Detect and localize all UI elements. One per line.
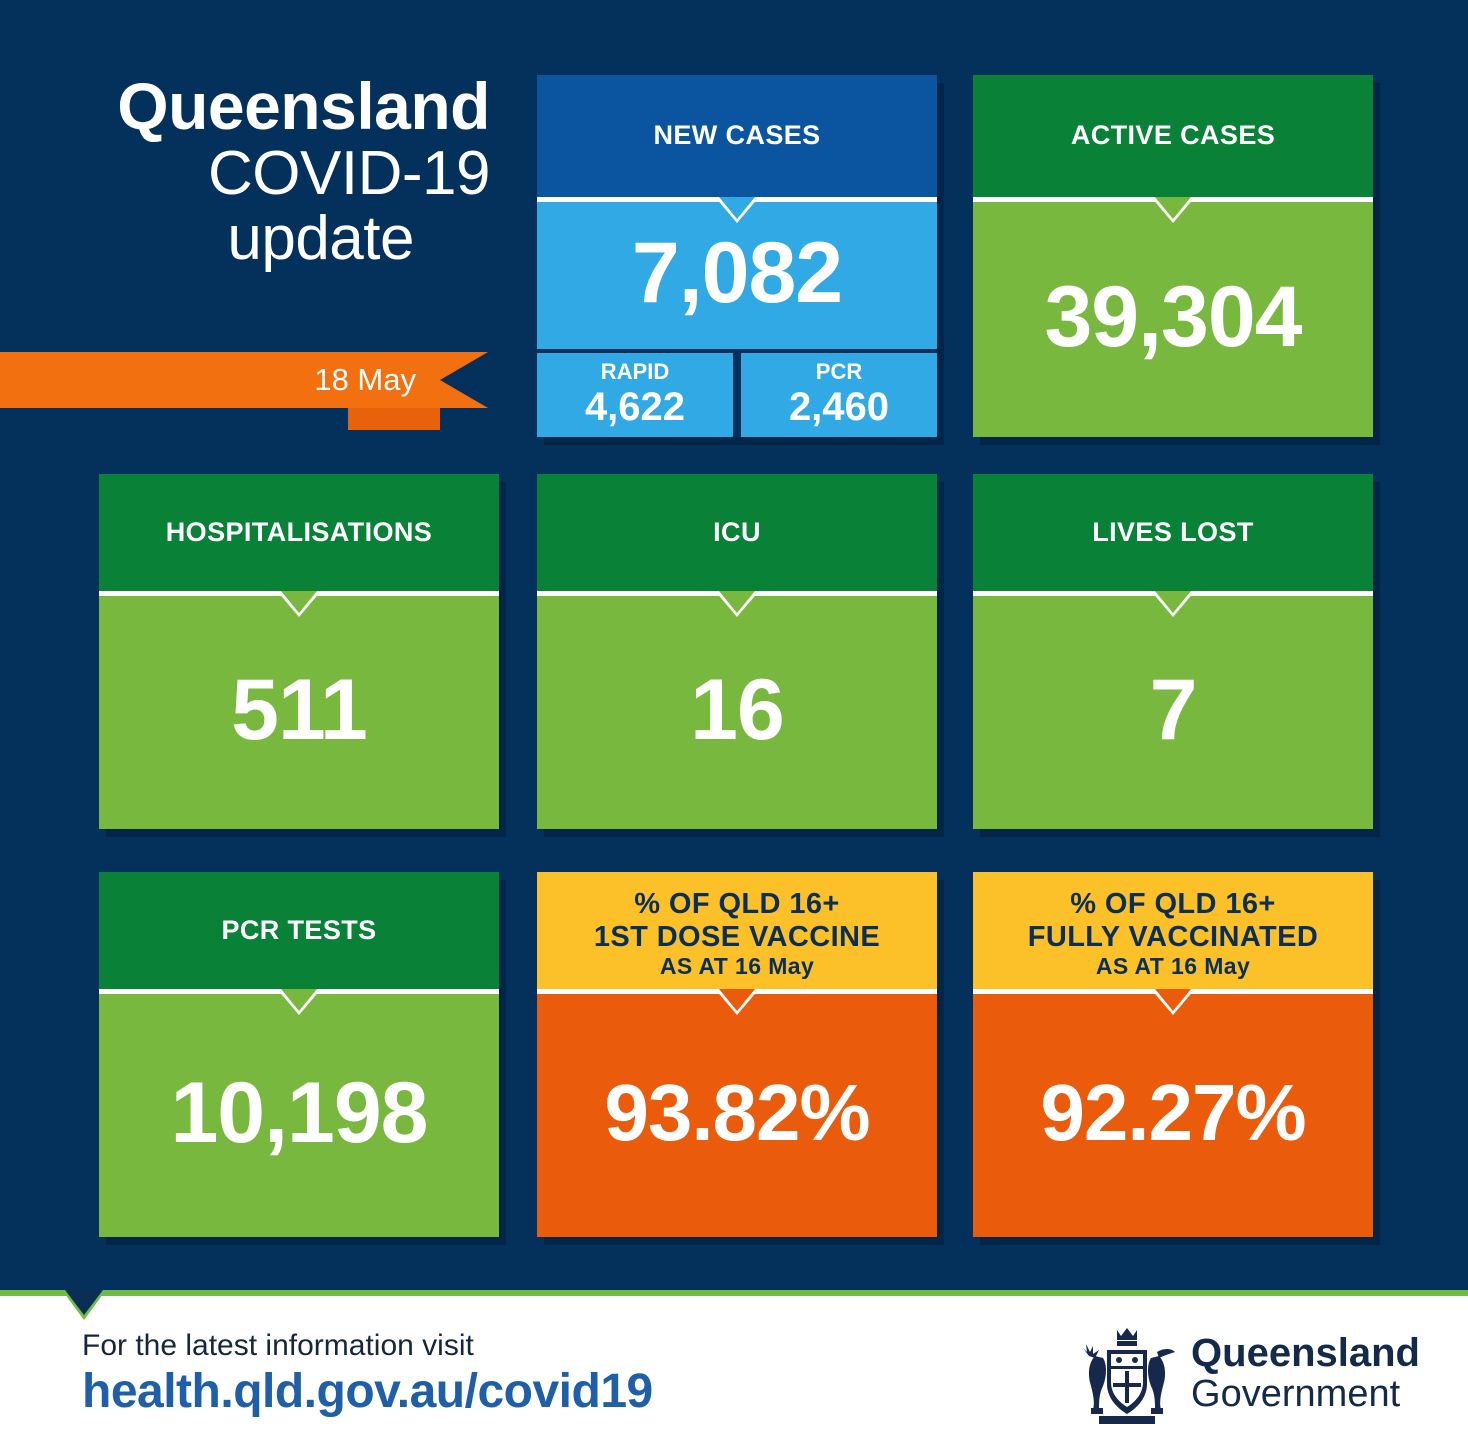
card-fully-vaccinated-label-line2: FULLY VACCINATED (1028, 921, 1319, 953)
card-pcr-tests: PCR TESTS 10,198 (99, 872, 499, 1237)
card-first-dose-header: % OF QLD 16+ 1ST DOSE VACCINE AS AT 16 M… (537, 872, 937, 989)
card-active-cases-body: 39,304 (973, 197, 1373, 437)
card-first-dose-vaccine: % OF QLD 16+ 1ST DOSE VACCINE AS AT 16 M… (537, 872, 937, 1237)
card-fully-vaccinated-label-line1: % OF QLD 16+ (1070, 888, 1275, 920)
card-first-dose-body: 93.82% (537, 989, 937, 1237)
card-new-cases-value: 7,082 (632, 230, 842, 316)
chevron-down-fill-icon (719, 591, 755, 613)
subtile-rapid-value: 4,622 (537, 385, 733, 431)
card-icu-label: ICU (713, 517, 761, 548)
page-title: Queensland COVID-19 update (0, 72, 500, 272)
ribbon-date-label: 18 May (0, 352, 416, 408)
chevron-down-fill-icon (719, 197, 755, 219)
card-lives-lost-body: 7 (973, 591, 1373, 829)
card-pcr-tests-header: PCR TESTS (99, 872, 499, 989)
card-active-cases: ACTIVE CASES 39,304 (973, 75, 1373, 437)
card-icu-header: ICU (537, 474, 937, 591)
card-active-cases-header: ACTIVE CASES (973, 75, 1373, 197)
queensland-government-logo: Queensland Government (1077, 1322, 1420, 1426)
chevron-down-fill-icon (719, 989, 755, 1011)
card-lives-lost: LIVES LOST 7 (973, 474, 1373, 829)
subtile-pcr-value: 2,460 (741, 385, 937, 431)
subtile-pcr: PCR 2,460 (741, 353, 937, 437)
card-fully-vaccinated-value: 92.27% (1040, 1073, 1305, 1153)
chevron-down-fill-icon (1155, 989, 1191, 1011)
subtile-pcr-label: PCR (741, 359, 937, 385)
card-fully-vaccinated-header: % OF QLD 16+ FULLY VACCINATED AS AT 16 M… (973, 872, 1373, 989)
card-fully-vaccinated: % OF QLD 16+ FULLY VACCINATED AS AT 16 M… (973, 872, 1373, 1237)
footer-info-text: For the latest information visit (82, 1328, 653, 1364)
card-active-cases-value: 39,304 (1044, 274, 1301, 360)
card-icu: ICU 16 (537, 474, 937, 829)
card-icu-value: 16 (690, 667, 784, 753)
coat-of-arms-icon (1077, 1322, 1177, 1426)
chevron-down-fill-icon (1155, 591, 1191, 613)
card-first-dose-value: 93.82% (604, 1073, 869, 1153)
card-hospitalisations-body: 511 (99, 591, 499, 829)
card-hospitalisations-label: HOSPITALISATIONS (166, 517, 432, 548)
footer-divider (0, 1290, 1468, 1296)
brand-line-queensland: Queensland (1191, 1333, 1420, 1375)
date-ribbon: 18 May (0, 352, 500, 428)
footer-url[interactable]: health.qld.gov.au/covid19 (82, 1364, 653, 1420)
card-fully-vaccinated-label-line3: AS AT 16 May (1096, 953, 1250, 981)
card-first-dose-label-line2: 1ST DOSE VACCINE (594, 921, 880, 953)
chevron-down-fill-icon (1155, 197, 1191, 219)
card-new-cases-body: 7,082 (537, 197, 937, 349)
brand-line-government: Government (1191, 1375, 1420, 1415)
card-new-cases-header: NEW CASES (537, 75, 937, 197)
title-line-queensland: Queensland (0, 72, 500, 141)
card-fully-vaccinated-body: 92.27% (973, 989, 1373, 1237)
ribbon-tail-icon (440, 352, 488, 408)
card-active-cases-label: ACTIVE CASES (1071, 120, 1275, 151)
infographic-stage: Queensland COVID-19 update 18 May NEW CA… (0, 0, 1468, 1290)
card-first-dose-label-line1: % OF QLD 16+ (634, 888, 839, 920)
card-lives-lost-header: LIVES LOST (973, 474, 1373, 591)
footer: For the latest information visit health.… (0, 1290, 1468, 1440)
subtile-rapid-label: RAPID (537, 359, 733, 385)
title-line-covid19: COVID-19 (0, 141, 500, 207)
new-cases-subtiles: RAPID 4,622 PCR 2,460 (537, 353, 937, 437)
card-pcr-tests-label: PCR TESTS (221, 915, 376, 946)
ribbon-fold (348, 408, 440, 430)
card-new-cases-label: NEW CASES (653, 120, 820, 151)
footer-info: For the latest information visit health.… (82, 1328, 653, 1420)
card-first-dose-label-line3: AS AT 16 May (660, 953, 814, 981)
title-line-update: update (0, 206, 500, 272)
card-lives-lost-label: LIVES LOST (1092, 517, 1254, 548)
brand-text: Queensland Government (1191, 1333, 1420, 1414)
card-hospitalisations-value: 511 (231, 667, 367, 753)
card-pcr-tests-value: 10,198 (170, 1070, 427, 1156)
card-icu-body: 16 (537, 591, 937, 829)
card-new-cases: NEW CASES 7,082 RAPID 4,622 PCR 2,460 (537, 75, 937, 437)
chevron-down-fill-icon (281, 591, 317, 613)
subtile-rapid: RAPID 4,622 (537, 353, 733, 437)
card-hospitalisations-header: HOSPITALISATIONS (99, 474, 499, 591)
card-hospitalisations: HOSPITALISATIONS 511 (99, 474, 499, 829)
card-pcr-tests-body: 10,198 (99, 989, 499, 1237)
chevron-down-fill-icon (65, 1290, 103, 1315)
chevron-down-fill-icon (281, 989, 317, 1011)
card-lives-lost-value: 7 (1150, 667, 1197, 753)
